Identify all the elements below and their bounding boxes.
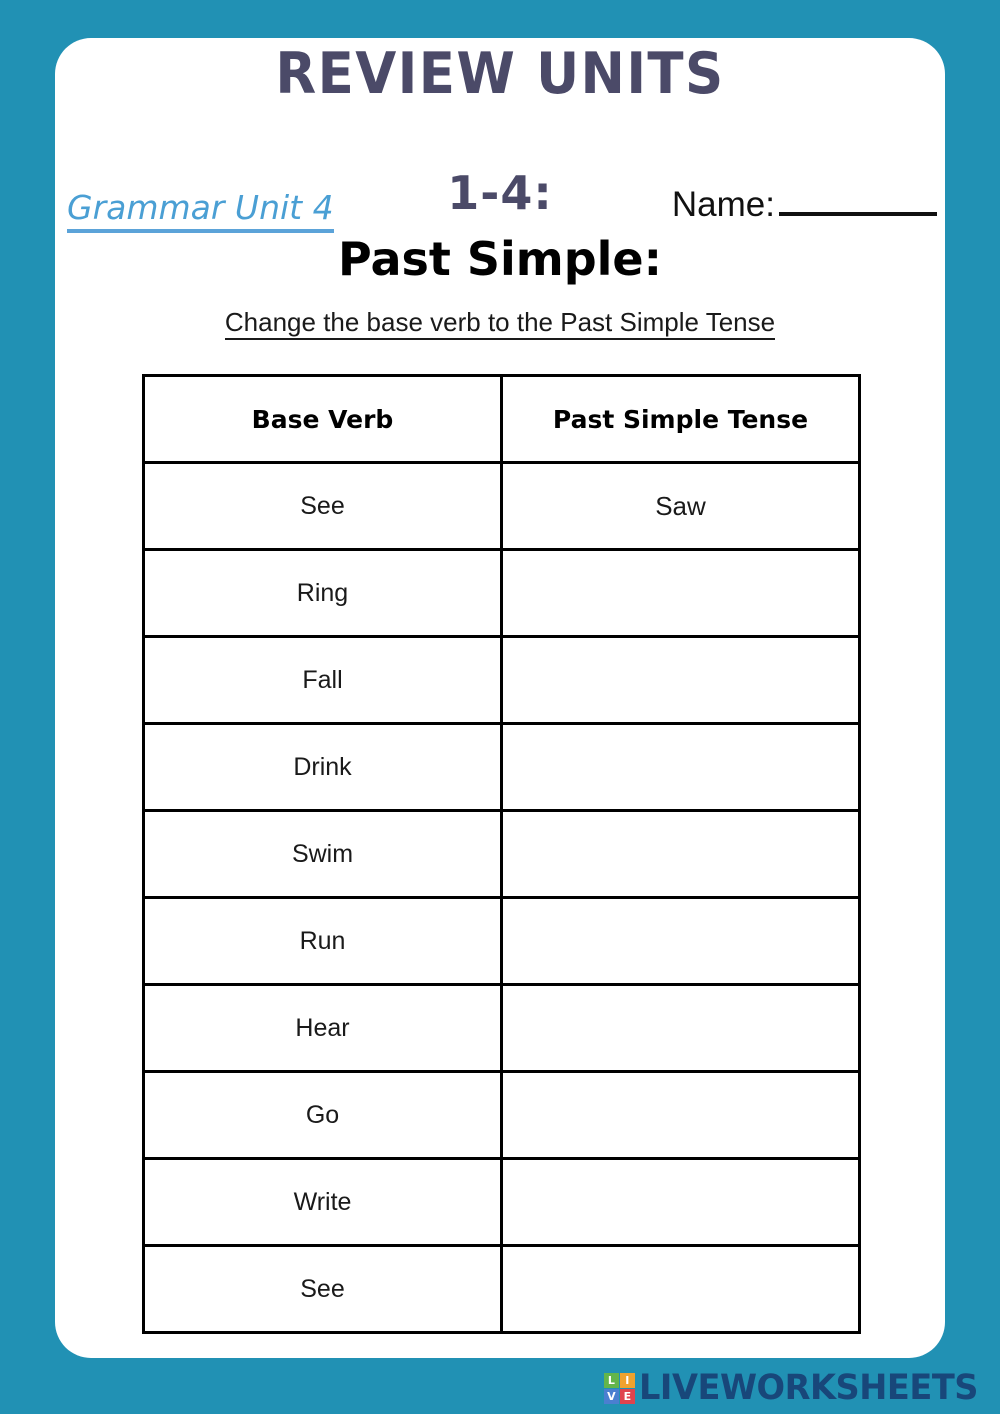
lesson-heading: Past Simple:: [55, 234, 945, 285]
past-tense-cell[interactable]: [502, 1159, 860, 1246]
base-verb-cell: Drink: [144, 724, 502, 811]
logo-tile-i: I: [620, 1373, 635, 1388]
instruction-text: Change the base verb to the Past Simple …: [55, 308, 945, 337]
table-row: Swim: [144, 811, 860, 898]
base-verb-cell: Swim: [144, 811, 502, 898]
table-row: Run: [144, 898, 860, 985]
base-verb-cell: See: [144, 1246, 502, 1333]
past-tense-cell[interactable]: [502, 1246, 860, 1333]
table-row: Ring: [144, 550, 860, 637]
past-tense-cell[interactable]: [502, 637, 860, 724]
past-tense-cell[interactable]: [502, 724, 860, 811]
table-header-row: Base Verb Past Simple Tense: [144, 376, 860, 463]
worksheet-card: REVIEW UNITS 1-4: Grammar Unit 4 Name: P…: [55, 38, 945, 1358]
past-tense-cell[interactable]: [502, 1072, 860, 1159]
page-title: REVIEW UNITS: [86, 46, 914, 103]
name-label: Name:: [672, 185, 775, 224]
liveworksheets-brand[interactable]: L I V E LIVEWORKSHEETS: [604, 1371, 992, 1406]
column-header-base-verb: Base Verb: [144, 376, 502, 463]
base-verb-cell: Run: [144, 898, 502, 985]
past-tense-cell[interactable]: [502, 550, 860, 637]
base-verb-cell: Hear: [144, 985, 502, 1072]
table-row: Fall: [144, 637, 860, 724]
table-row: See: [144, 1246, 860, 1333]
instruction-label: Change the base verb to the Past Simple …: [225, 307, 775, 340]
table-row: Write: [144, 1159, 860, 1246]
past-tense-cell[interactable]: Saw: [502, 463, 860, 550]
past-tense-cell[interactable]: [502, 898, 860, 985]
grammar-unit-link[interactable]: Grammar Unit 4: [67, 190, 334, 233]
worksheet-header: REVIEW UNITS 1-4: Grammar Unit 4 Name: P…: [55, 38, 945, 338]
table-row: Hear: [144, 985, 860, 1072]
base-verb-cell: Go: [144, 1072, 502, 1159]
base-verb-cell: Ring: [144, 550, 502, 637]
logo-tile-v: V: [604, 1389, 619, 1404]
base-verb-cell: Fall: [144, 637, 502, 724]
liveworksheets-logo-icon: L I V E: [604, 1373, 635, 1404]
column-header-past-simple-tense: Past Simple Tense: [502, 376, 860, 463]
table-row: Go: [144, 1072, 860, 1159]
base-verb-cell: See: [144, 463, 502, 550]
name-field: Name:: [672, 186, 937, 225]
name-input-blank[interactable]: [779, 186, 937, 216]
logo-tile-l: L: [604, 1373, 619, 1388]
logo-tile-e: E: [620, 1389, 635, 1404]
table-row: Drink: [144, 724, 860, 811]
verb-table: Base Verb Past Simple Tense See Saw Ring…: [142, 374, 861, 1334]
base-verb-cell: Write: [144, 1159, 502, 1246]
table-row: See Saw: [144, 463, 860, 550]
table-body: See Saw Ring Fall Drink Swim Run: [144, 463, 860, 1333]
brand-wordmark: LIVEWORKSHEETS: [639, 1371, 978, 1406]
past-tense-cell[interactable]: [502, 985, 860, 1072]
past-tense-cell[interactable]: [502, 811, 860, 898]
